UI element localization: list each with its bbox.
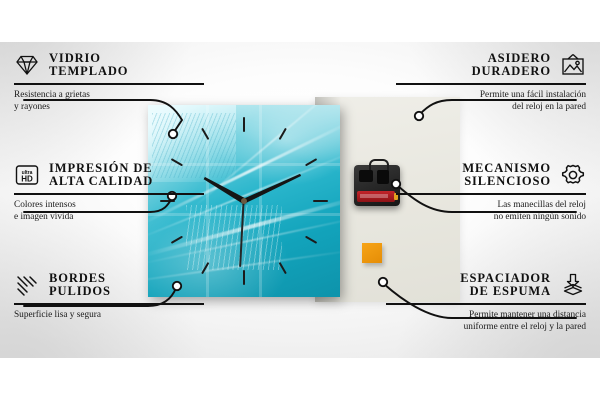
- picture-hanger-icon: [560, 53, 586, 77]
- feature-title-line2: DE ESPUMA: [460, 285, 551, 298]
- feature-divider: [14, 193, 204, 195]
- clock-mechanism: [354, 165, 400, 206]
- mechanism-module: [377, 170, 389, 184]
- feature-vidrio-templado: VIDRIO TEMPLADO Resistencia a grietas y …: [14, 52, 204, 113]
- feature-description-line1: Permite mantener una distancia: [386, 309, 586, 321]
- top-white-band: [0, 0, 600, 42]
- feature-divider: [14, 83, 204, 85]
- foam-spacer-icon: [560, 273, 586, 297]
- feature-description-line2: del reloj en la pared: [396, 101, 586, 113]
- polished-edges-icon: [14, 273, 40, 297]
- feature-bordes-pulidos: BORDES PULIDOS Superficie lisa y segura: [14, 272, 204, 321]
- clock-tick: [243, 117, 245, 201]
- feature-divider: [386, 303, 586, 305]
- feature-description-line1: Permite una fácil instalación: [396, 89, 586, 101]
- feature-espaciador-de-espuma: ESPACIADOR DE ESPUMA Permite mantener un…: [386, 272, 586, 333]
- feature-description-line2: e imagen vívida: [14, 211, 204, 223]
- feature-divider: [14, 303, 204, 305]
- feature-description-line2: y rayones: [14, 101, 204, 113]
- feature-title-line2: ALTA CALIDAD: [49, 175, 153, 188]
- feature-title-line2: PULIDOS: [49, 285, 111, 298]
- diamond-icon: [14, 53, 40, 77]
- feature-description-line1: Superficie lisa y segura: [14, 309, 204, 321]
- feature-title-line2: DURADERO: [472, 65, 551, 78]
- clock-center-hub: [241, 198, 247, 204]
- feature-mecanismo-silencioso: MECANISMO SILENCIOSO Las manecillas del …: [396, 162, 586, 223]
- gear-icon: [560, 163, 586, 187]
- feature-asidero-duradero: ASIDERO DURADERO Permite una fácil insta…: [396, 52, 586, 113]
- feature-title-line2: TEMPLADO: [49, 65, 128, 78]
- feature-description-line1: Resistencia a grietas: [14, 89, 204, 101]
- infographic-canvas: VIDRIO TEMPLADO Resistencia a grietas y …: [0, 0, 600, 400]
- feature-divider: [396, 193, 586, 195]
- mechanism-module: [359, 170, 373, 182]
- clock-tick: [244, 200, 328, 202]
- feature-description-line1: Colores intensos: [14, 199, 204, 211]
- battery: [357, 191, 395, 202]
- feature-impresion-alta-calidad: ultra HD IMPRESIÓN DE ALTA CALIDAD Color…: [14, 162, 204, 223]
- feature-title-line2: SILENCIOSO: [462, 175, 551, 188]
- ultra-hd-icon: ultra HD: [14, 163, 40, 187]
- foam-spacer: [362, 243, 382, 263]
- feature-description-line2: uniforme entre el reloj y la pared: [386, 321, 586, 333]
- svg-text:HD: HD: [21, 175, 33, 184]
- feature-divider: [396, 83, 586, 85]
- feature-description-line1: Las manecillas del reloj: [396, 199, 586, 211]
- feature-description-line2: no emiten ningún sonido: [396, 211, 586, 223]
- bottom-white-band: [0, 358, 600, 400]
